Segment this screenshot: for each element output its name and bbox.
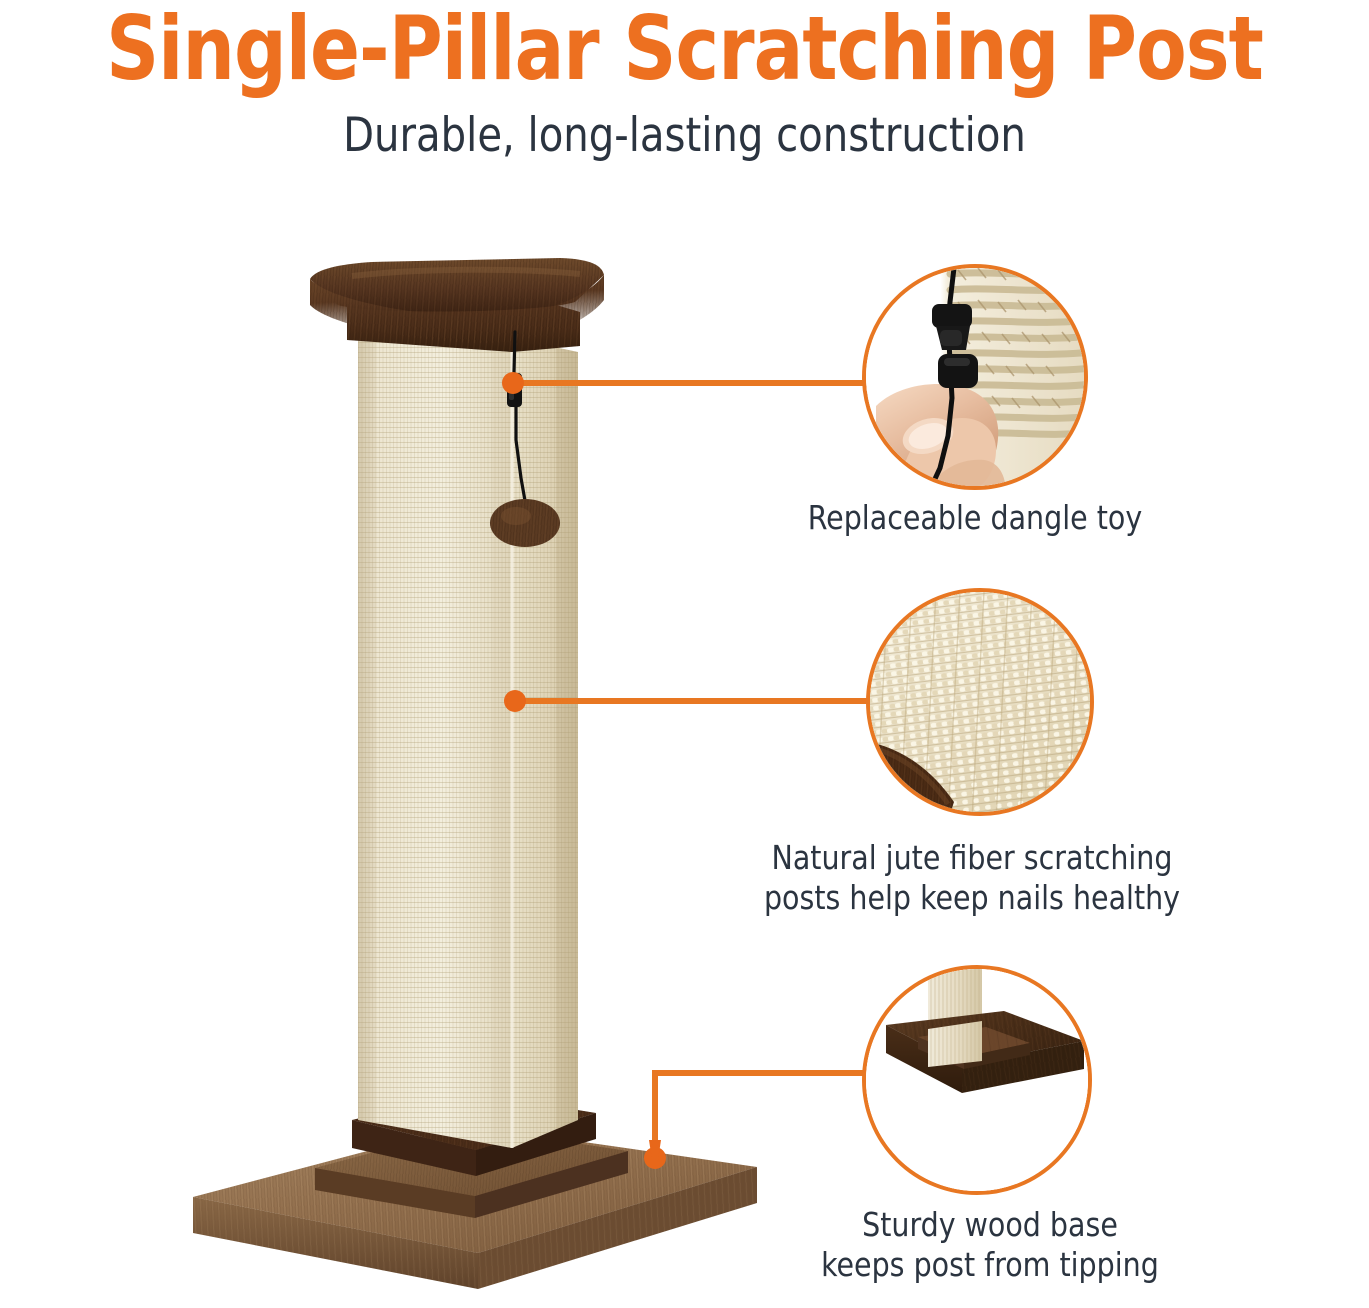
- zoom-photo-wood-base: [866, 969, 1088, 1191]
- connector-dot-dangle-toy: [502, 372, 524, 394]
- callout-caption-dangle-toy: Replaceable dangle toy: [769, 498, 1182, 538]
- toy-connector-lower: [938, 354, 978, 388]
- zoom-photo-dangle-toy: [866, 268, 1084, 486]
- callout-caption-jute-fiber: Natural jute fiber scratching posts help…: [751, 838, 1193, 919]
- connector-line-wood-base: [655, 1073, 866, 1152]
- connector-dot-jute-fiber: [504, 690, 526, 712]
- callout-caption-wood-base: Sturdy wood base keeps post from tipping: [798, 1205, 1182, 1286]
- callout-circle-wood-base: [862, 965, 1092, 1195]
- callout-circle-jute-fiber: [866, 588, 1094, 816]
- zoom-photo-jute-fiber: [870, 592, 1090, 812]
- callout-connectors: [0, 0, 1369, 1308]
- callout-circle-dangle-toy: [862, 264, 1088, 490]
- infographic-stage: Replaceable dangle toy: [0, 0, 1369, 1308]
